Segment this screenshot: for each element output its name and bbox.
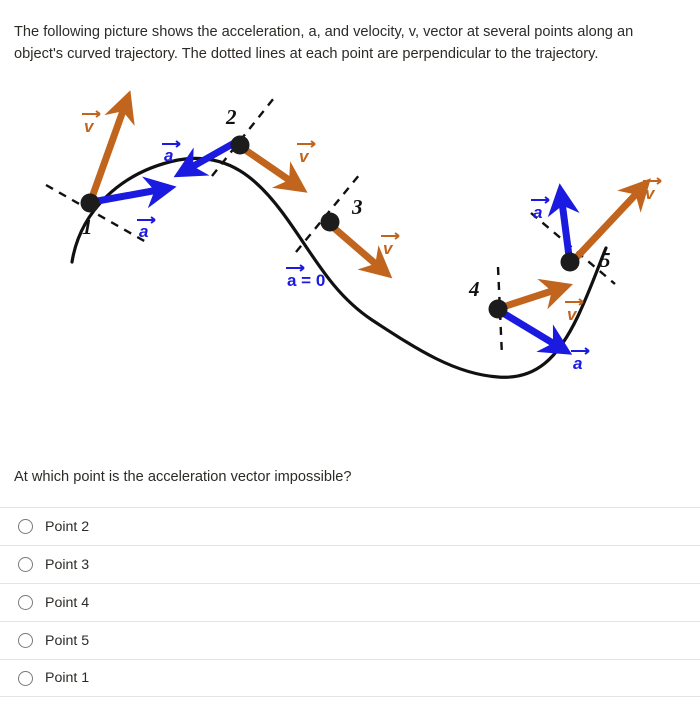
radio-icon[interactable] — [18, 671, 33, 686]
point-2-acceleration-label: a — [164, 146, 173, 165]
answer-option-label: Point 1 — [45, 670, 89, 686]
radio-icon[interactable] — [18, 595, 33, 610]
answer-option-0[interactable]: Point 2 — [0, 507, 700, 545]
prompt-text: The following picture shows the accelera… — [14, 21, 686, 65]
answer-option-label: Point 4 — [45, 595, 89, 611]
point-2-dot — [231, 136, 250, 155]
point-5-velocity-label: v — [645, 184, 656, 203]
question-page: The following picture shows the accelera… — [0, 0, 700, 708]
point-1-group: 1 v a — [81, 108, 159, 241]
answer-option-label: Point 5 — [45, 633, 89, 649]
point-3-number: 3 — [351, 195, 363, 219]
radio-icon[interactable] — [18, 519, 33, 534]
point-1-dot — [81, 194, 100, 213]
radio-icon[interactable] — [18, 557, 33, 572]
answer-option-2[interactable]: Point 4 — [0, 583, 700, 621]
acceleration-arrow-point-5 — [562, 202, 569, 256]
point-1-acceleration-label: a — [139, 222, 148, 241]
point-5-group: 5 v a — [531, 178, 661, 272]
acceleration-arrow-point-1 — [92, 190, 158, 202]
point-3-velocity-label: v — [383, 239, 394, 258]
point-1-number: 1 — [82, 215, 93, 239]
answer-options-list: Point 2 Point 3 Point 4 Point 5 Point 1 — [0, 507, 700, 697]
point-4-dot — [489, 300, 508, 319]
trajectory-svg: 1 v a 2 v a — [0, 62, 700, 442]
point-4-acceleration-label: a — [573, 354, 582, 373]
velocity-arrow-point-4 — [503, 290, 555, 307]
answer-option-label: Point 3 — [45, 557, 89, 573]
point-4-velocity-label: v — [567, 305, 578, 324]
point-4-group: 4 v a — [468, 277, 589, 373]
answer-option-label: Point 2 — [45, 519, 89, 535]
point-4-number: 4 — [468, 277, 480, 301]
answer-option-4[interactable]: Point 1 — [0, 659, 700, 697]
velocity-arrow-point-1 — [90, 108, 124, 203]
point-3-acceleration-label: a = 0 — [287, 271, 325, 290]
point-2-number: 2 — [225, 105, 237, 129]
point-2-velocity-label: v — [299, 147, 310, 166]
point-5-acceleration-label: a — [533, 203, 542, 222]
point-1-velocity-label: v — [84, 117, 95, 136]
trajectory-figure: 1 v a 2 v a — [0, 62, 700, 442]
radio-icon[interactable] — [18, 633, 33, 648]
point-5-dot — [561, 253, 580, 272]
acceleration-arrow-point-4 — [503, 313, 556, 345]
question-text: At which point is the acceleration vecto… — [14, 467, 674, 489]
point-3-dot — [321, 213, 340, 232]
answer-option-3[interactable]: Point 5 — [0, 621, 700, 659]
point-5-number: 5 — [600, 248, 611, 272]
velocity-arrow-point-3 — [334, 228, 378, 266]
answer-option-1[interactable]: Point 3 — [0, 545, 700, 583]
